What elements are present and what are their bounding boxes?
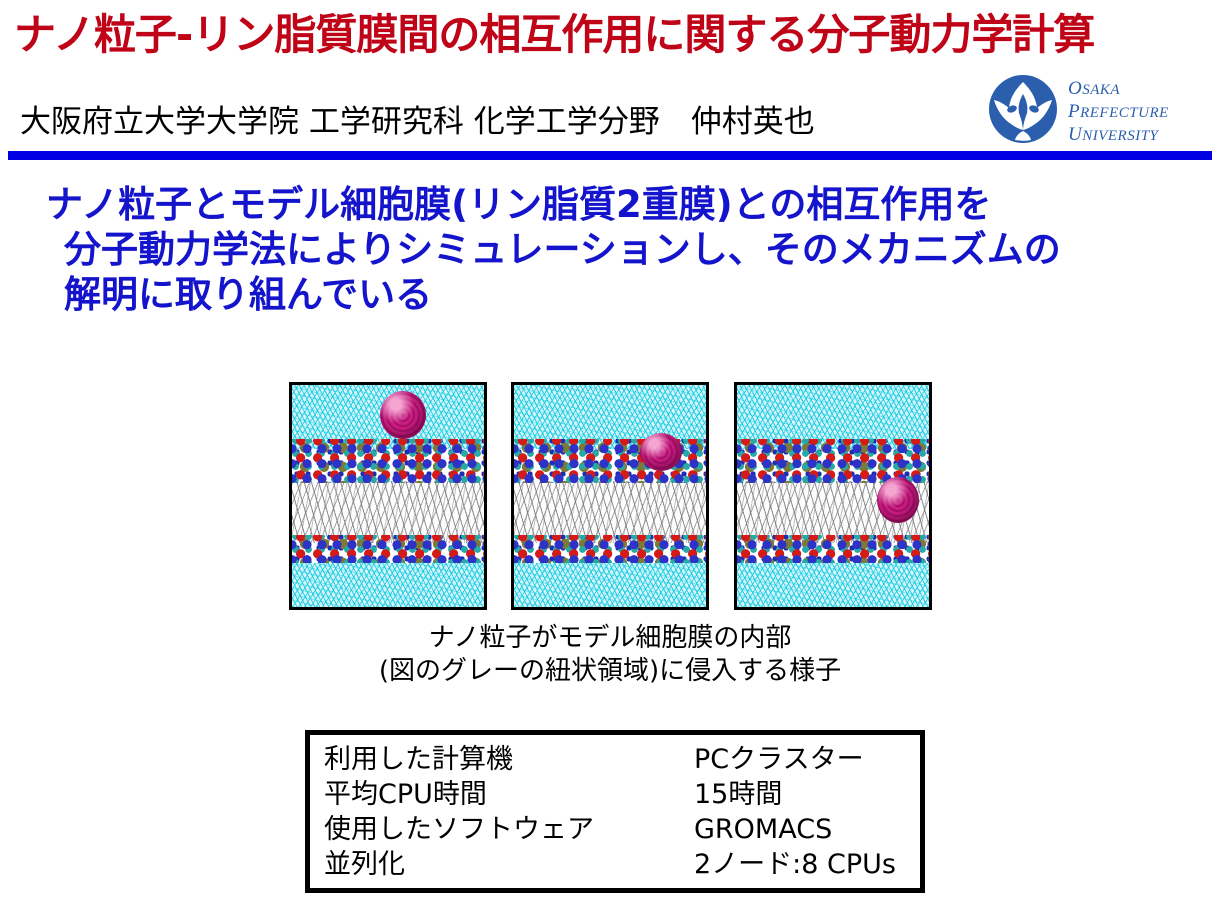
nanoparticle (640, 433, 682, 471)
water-region-bottom (514, 563, 706, 607)
page-title: ナノ粒子-リン脂質膜間の相互作用に関する分子動力学計算 (14, 6, 1214, 64)
table-row: 並列化 2ノード:8 CPUs (324, 847, 914, 882)
simulation-snapshot-row (289, 382, 934, 610)
spec-value: PCクラスター (694, 742, 864, 777)
simulation-frame-3 (734, 382, 932, 610)
spec-label: 利用した計算機 (324, 742, 694, 777)
simulation-frame-2 (511, 382, 709, 610)
spec-value: 15時間 (694, 777, 782, 812)
figure-caption: ナノ粒子がモデル細胞膜の内部 (図のグレーの紐状領域)に侵入する様子 (0, 622, 1220, 688)
nanoparticle (877, 477, 919, 523)
logo-line-osaka: OSAKA (1068, 78, 1169, 101)
spec-value: GROMACS (694, 812, 832, 847)
logo-line-prefecture: PREFECTURE (1068, 101, 1169, 124)
headgroup-band-upper (292, 439, 484, 483)
table-row: 使用したソフトウェア GROMACS (324, 812, 914, 847)
figure-caption-line-2: (図のグレーの紐状領域)に侵入する様子 (0, 655, 1220, 688)
table-row: 平均CPU時間 15時間 (324, 777, 914, 812)
header-divider-rule (8, 151, 1212, 160)
figure-caption-line-1: ナノ粒子がモデル細胞膜の内部 (0, 622, 1220, 655)
md-scene (737, 385, 929, 607)
spec-value: 2ノード:8 CPUs (694, 847, 896, 882)
osaka-prefecture-university-emblem-icon (988, 74, 1058, 144)
water-region-bottom (737, 563, 929, 607)
spec-label: 並列化 (324, 847, 694, 882)
computation-spec-table: 利用した計算機 PCクラスター 平均CPU時間 15時間 使用したソフトウェア … (305, 730, 925, 893)
spec-label: 使用したソフトウェア (324, 812, 694, 847)
md-scene (292, 385, 484, 607)
lipid-tail-core (292, 481, 484, 543)
summary-line-2: 分子動力学法によりシミュレーションし、そのメカニズムの (46, 227, 1196, 272)
author-affiliation-line: 大阪府立大学大学院 工学研究科 化学工学分野 仲村英也 (20, 100, 815, 144)
simulation-frame-1 (289, 382, 487, 610)
university-logo: OSAKA PREFECTURE UNIVERSITY (988, 74, 1198, 146)
lipid-tail-core (514, 481, 706, 543)
summary-line-1: ナノ粒子とモデル細胞膜(リン脂質2重膜)との相互作用を (46, 182, 1196, 227)
summary-paragraph: ナノ粒子とモデル細胞膜(リン脂質2重膜)との相互作用を 分子動力学法によりシミュ… (46, 182, 1196, 317)
water-region-bottom (292, 563, 484, 607)
spec-label: 平均CPU時間 (324, 777, 694, 812)
summary-line-3: 解明に取り組んでいる (46, 272, 1196, 317)
presentation-slide: ナノ粒子-リン脂質膜間の相互作用に関する分子動力学計算 大阪府立大学大学院 工学… (0, 0, 1220, 915)
logo-line-university: UNIVERSITY (1068, 124, 1169, 147)
table-row: 利用した計算機 PCクラスター (324, 742, 914, 777)
md-scene (514, 385, 706, 607)
spec-table-rows: 利用した計算機 PCクラスター 平均CPU時間 15時間 使用したソフトウェア … (324, 742, 914, 882)
university-logo-wordmark: OSAKA PREFECTURE UNIVERSITY (1068, 78, 1169, 147)
nanoparticle (380, 391, 426, 439)
